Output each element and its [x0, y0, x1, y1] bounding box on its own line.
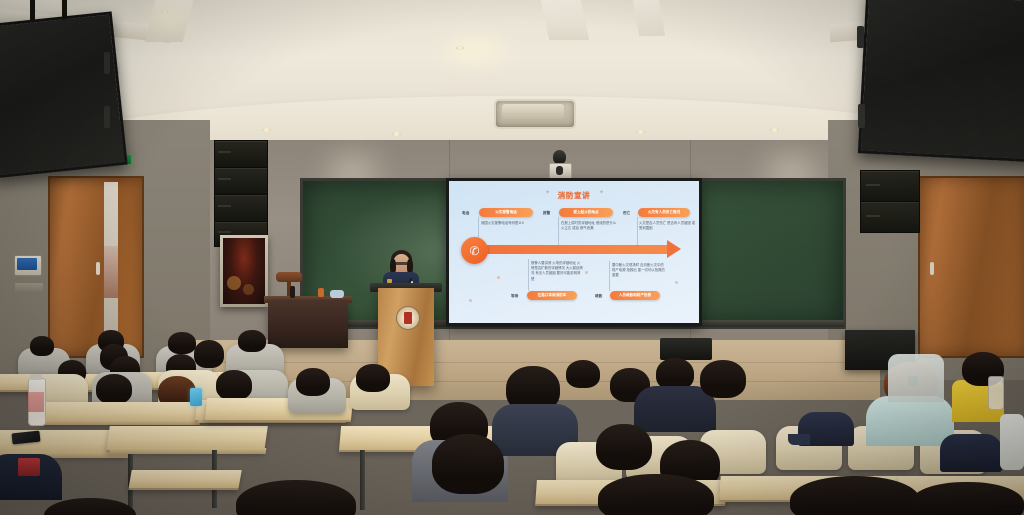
slide-connector [558, 217, 559, 247]
projection-screen: ✦ 消防宣讲 ✦ 电话 火灾报警电话 我国火灾报警电话号码是119 报警 报上起… [446, 178, 702, 326]
framed-wall-poster [220, 235, 268, 307]
wall-camera-icon [553, 150, 566, 164]
slide-content: ✦ 消防宣讲 ✦ 电话 火灾报警电话 我国火灾报警电话号码是119 报警 报上起… [449, 181, 699, 323]
speaker-stack-left [214, 167, 268, 195]
monitor-bracket [858, 104, 865, 128]
student-head [44, 498, 136, 515]
speaker-stack-right [860, 170, 920, 202]
ceiling-monitor-left [0, 11, 128, 178]
corridor-view [104, 246, 118, 298]
speaker-detail [866, 184, 880, 186]
seal-mark [404, 312, 412, 324]
desk [128, 470, 242, 490]
slide-step-pill: 报上起火的地点 [559, 208, 613, 217]
timeline-arrow [475, 245, 673, 254]
door-handle[interactable] [96, 262, 100, 275]
student-head [566, 360, 600, 388]
cap-brim [788, 434, 810, 445]
slide-dot [469, 299, 472, 302]
speaker-stack-right [860, 201, 920, 233]
desk-item [318, 288, 324, 297]
student-head [168, 332, 196, 354]
slide-decoration-right: ✦ [599, 189, 604, 196]
poster-detail [227, 276, 241, 290]
desk-item [290, 286, 295, 298]
slide-step-pill: 火灾报警电话 [479, 208, 533, 217]
speaker-detail [218, 151, 231, 153]
audience-seating [0, 330, 1024, 515]
speaker-detail [218, 178, 231, 180]
student-head [790, 476, 920, 515]
student-head [238, 330, 266, 352]
baseball-cap [940, 434, 1002, 472]
slide-step-tag: 疏散 [595, 294, 602, 299]
student-head [910, 482, 1024, 515]
smartphone-in-hand[interactable] [190, 388, 202, 406]
speaker-detail [866, 215, 880, 217]
slide-dot [585, 271, 588, 274]
slide-step-tag: 伤亡 [623, 211, 630, 216]
speaker-detail [218, 231, 231, 233]
ceiling-monitor-right [858, 0, 1024, 163]
downlight [770, 128, 779, 132]
student-head [700, 360, 746, 398]
monitor-bracket [104, 106, 110, 128]
phone-icon: ✆ [461, 237, 488, 264]
student-garment [888, 354, 944, 402]
downlight [636, 130, 645, 134]
desk-leg [360, 450, 365, 510]
student-head [216, 370, 252, 400]
student-head [96, 374, 132, 404]
slide-step-body: 在报上讲时的详细地址 燃烧的是什么 火主达 或油 燃气泄漏 [561, 221, 619, 231]
light-glow [430, 30, 520, 70]
student-head [296, 368, 330, 396]
slide-connector [609, 261, 610, 291]
slide-connector [637, 217, 638, 247]
av-panel-screen[interactable] [17, 258, 37, 270]
slide-step-tag: 电话 [462, 211, 469, 216]
student-head [356, 364, 390, 392]
poster-detail [243, 284, 254, 295]
slide-step-pill: 火灾有人员伤亡情况 [638, 208, 690, 217]
slide-step-body: 报警人要讲清 火场的详细地址 火情是否扩散的详细情况 大火蔓延情况 有无人员被困… [531, 261, 583, 282]
monitor-bracket [857, 26, 864, 48]
slide-connector [528, 259, 529, 291]
downlight [262, 128, 271, 132]
camera-lens-icon [556, 166, 563, 175]
student-head [596, 424, 652, 470]
speaker-detail [218, 205, 231, 207]
downlight [392, 132, 401, 136]
student-garment-detail [18, 458, 40, 476]
presenter-glasses [395, 262, 408, 265]
light-glow [140, 2, 196, 32]
timeline-arrow-head [667, 240, 681, 258]
slide-dot [497, 276, 500, 279]
door-handle[interactable] [930, 262, 934, 275]
slide-step-body: 我国火灾报警电话号码是119 [481, 221, 539, 226]
student-head [236, 480, 356, 515]
water-bottle[interactable] [988, 376, 1004, 410]
desk-item [330, 290, 344, 298]
speaker-stack-left [214, 194, 268, 222]
university-seal [396, 306, 420, 330]
slide-dot [675, 281, 678, 284]
slide-step-tag: 报警 [543, 211, 550, 216]
poster-artwork [223, 238, 265, 304]
student-head [598, 474, 714, 515]
bottle-cap [30, 374, 42, 380]
ceiling-beam-3 [541, 0, 590, 40]
speaker-stack-left [214, 140, 268, 168]
ac-vent-grille [502, 104, 564, 119]
student-head [30, 336, 54, 356]
slide-title: 消防宣讲 [449, 190, 699, 201]
wall-plate [15, 283, 43, 294]
slide-step-body: 要中断火灾现场时 应切断火灾中的财产电源 抢救出 重一切可以抢救的重要 [612, 263, 666, 279]
slide-step-pill: 在路口等候消防车 [527, 291, 577, 300]
desk-edge [44, 420, 201, 425]
lecture-hall-photo: ✦ 消防宣讲 ✦ 电话 火灾报警电话 我国火灾报警电话号码是119 报警 报上起… [0, 0, 1024, 515]
slide-step-pill: 人员疏散和财产抢救 [610, 291, 660, 300]
desk-edge [110, 448, 267, 454]
student-garment [1000, 414, 1024, 470]
student-shoulders [866, 396, 954, 446]
student-head [194, 340, 224, 368]
monitor-bracket [104, 52, 110, 74]
bottle-label [28, 392, 44, 412]
slide-step-body: 火灾是否人员伤亡 是否有人员被困 或受到围困 [639, 221, 697, 231]
downlight [456, 46, 464, 50]
monitor-mount-left-2 [30, 0, 35, 20]
student-head [432, 434, 504, 494]
slide-step-tag: 等待 [511, 294, 518, 299]
